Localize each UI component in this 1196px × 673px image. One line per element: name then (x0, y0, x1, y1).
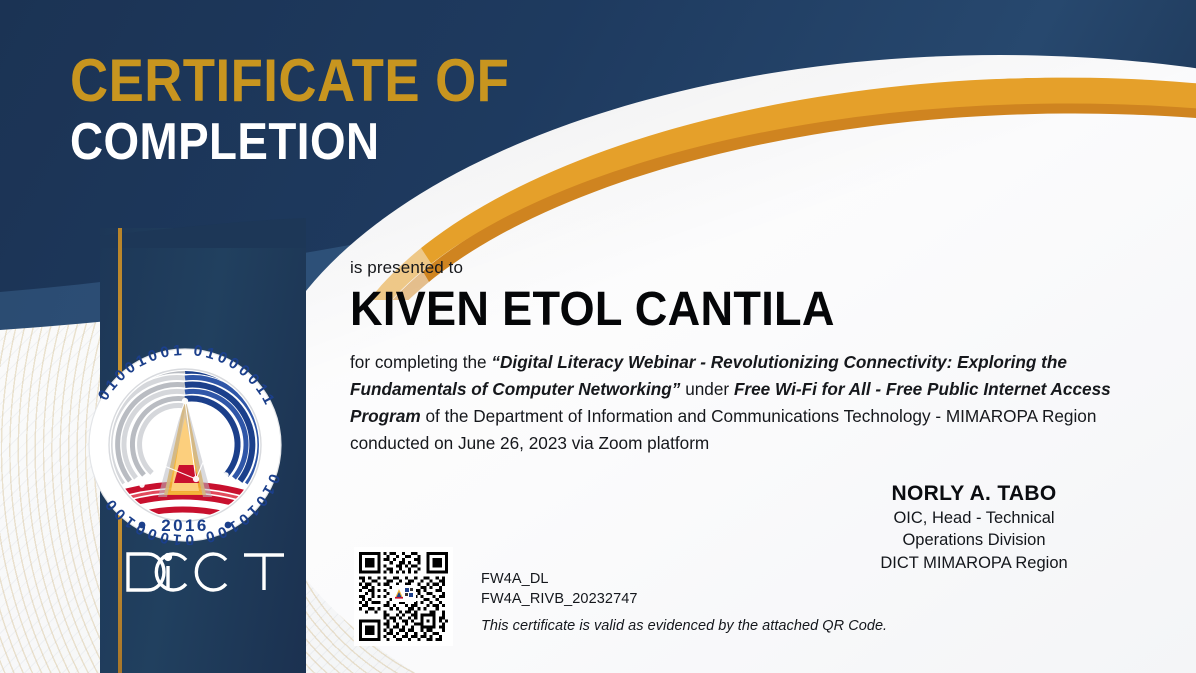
validity-note: This certificate is valid as evidenced b… (481, 618, 887, 634)
body-organization: of the Department of Information and Com… (350, 406, 1096, 453)
dict-seal: 01001001 01000011 01010100 01000100 2016 (66, 345, 304, 545)
body-under-label: under (685, 379, 729, 399)
certificate-title-block: CERTIFICATE OF COMPLETION (70, 52, 569, 169)
body-paragraph: for completing the “Digital Literacy Web… (350, 349, 1136, 458)
recipient-name: KIVEN ETOL CANTILA (350, 284, 1093, 337)
signature-block: NORLY A. TABO OIC, Head - Technical Oper… (814, 480, 1134, 574)
dict-wordmark (122, 546, 292, 598)
title-line-certificate-of: CERTIFICATE OF (70, 52, 509, 111)
reference-code-line-2: FW4A_RIVB_20232747 (481, 590, 887, 610)
reference-code-line-1: FW4A_DL (481, 570, 887, 590)
signatory-role-line-2: Operations Division (814, 529, 1134, 551)
signatory-role-line-1: OIC, Head - Technical (814, 507, 1134, 529)
presented-to-label: is presented to (350, 258, 1140, 278)
reference-block: FW4A_DL FW4A_RIVB_20232747 This certific… (481, 570, 887, 634)
certificate-canvas: 01001001 01000011 01010100 01000100 2016 (0, 0, 1196, 673)
certificate-body: is presented to KIVEN ETOL CANTILA for c… (350, 258, 1140, 457)
signatory-name: NORLY A. TABO (814, 480, 1134, 507)
body-lead: for completing the (350, 352, 487, 372)
qr-center-logo (392, 585, 416, 602)
title-line-completion: COMPLETION (70, 115, 509, 170)
seal-year: 2016 (161, 516, 208, 535)
